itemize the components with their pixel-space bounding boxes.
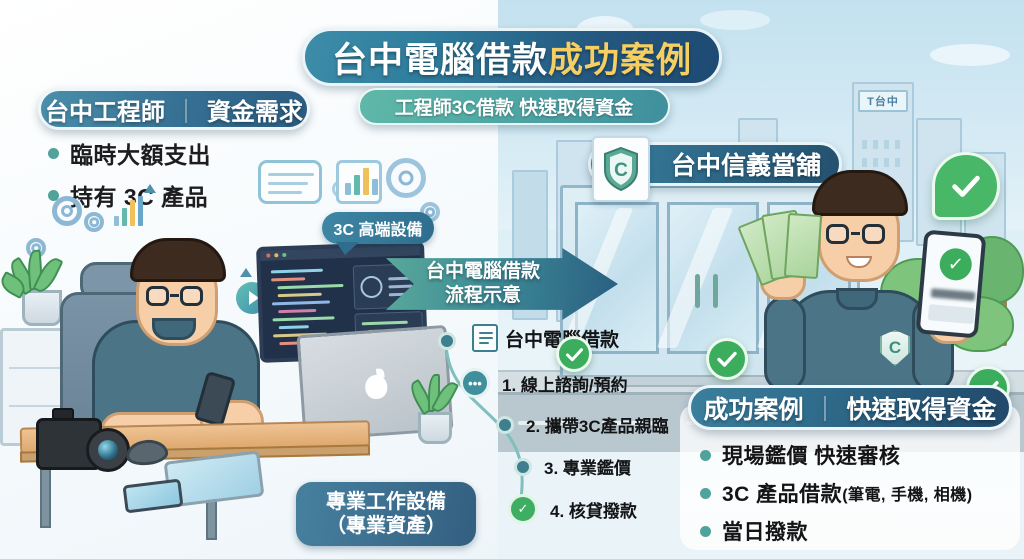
chat-icon: ••• xyxy=(460,368,490,398)
chat-bubble-icon xyxy=(258,160,322,204)
list-item-label: 臨時大額支出 xyxy=(70,136,211,170)
step-item-2: 2. 攜帶3C產品親臨 xyxy=(496,412,669,437)
left-section-badge: 台中工程師 ｜ 資金需求 xyxy=(38,88,310,130)
callout-3c-device: 3C 高端設備 xyxy=(322,212,434,244)
list-item-note: (筆電, 手機, 相機) xyxy=(842,481,972,505)
badge-separator: ｜ xyxy=(812,390,837,426)
infographic-poster: T台中 台中電腦借款成功案例 工程師3C借款 快速取得資金 台中工程師 ｜ xyxy=(0,0,1024,559)
cash-bill xyxy=(784,213,822,279)
document-icon xyxy=(472,324,498,352)
check-glyph xyxy=(949,169,983,203)
step-label: 1. 線上諮詢/預約 xyxy=(502,371,628,396)
left-badge-secondary: 資金需求 xyxy=(207,92,303,127)
step-item-1: ••• 1. 線上諮詢/預約 xyxy=(460,368,628,398)
step-node-icon xyxy=(514,458,532,476)
list-item: 3C 產品借款 (筆電, 手機, 相機) xyxy=(700,478,973,508)
shield-icon: C xyxy=(602,146,640,192)
step-item-3: 3. 專業鑑價 xyxy=(514,454,631,479)
caption-line-1: 專業工作設備 xyxy=(326,490,446,514)
step-node-icon xyxy=(496,416,514,434)
success-badge: 成功案例 ｜ 快速取得資金 xyxy=(688,385,1012,430)
list-item-label: 現場鑑價 快速審核 xyxy=(722,440,900,470)
success-badge-primary: 成功案例 xyxy=(703,390,803,426)
glasses-lens-icon xyxy=(146,286,169,306)
building-sign-label: T台中 xyxy=(858,90,908,112)
check-badge-icon xyxy=(706,338,748,380)
camera-viewfinder xyxy=(52,408,74,420)
phone-check-icon: ✓ xyxy=(938,247,973,282)
page-title-main: 台中電腦借款 xyxy=(332,32,548,83)
svg-text:C: C xyxy=(614,160,628,181)
glasses-bridge-icon xyxy=(851,232,860,235)
bullet-dot-icon xyxy=(48,148,59,159)
page-subtitle: 工程師3C借款 快速取得資金 xyxy=(358,88,670,125)
page-title-highlight: 成功案例 xyxy=(548,32,692,83)
approval-smartphone: ✓ xyxy=(916,229,987,338)
page-title: 台中電腦借款成功案例 xyxy=(302,28,722,86)
steps-header: 台中電腦借款 xyxy=(472,324,619,352)
glasses-lens-icon xyxy=(826,224,849,244)
cloud-icon xyxy=(700,10,770,30)
glasses-lens-icon xyxy=(180,286,203,306)
glasses-lens-icon xyxy=(862,224,885,244)
left-badge-primary: 台中工程師 xyxy=(45,92,165,127)
check-icon: ✓ xyxy=(508,494,538,524)
check-glyph xyxy=(715,347,739,371)
success-badge-secondary: 快速取得資金 xyxy=(847,390,997,426)
flow-arrow-line-2: 流程示意 xyxy=(426,284,540,308)
success-bullet-list: 現場鑑價 快速審核 3C 產品借款 (筆電, 手機, 相機) 當日撥款 xyxy=(700,440,973,554)
bullet-dot-icon xyxy=(700,526,711,537)
list-item: 現場鑑價 快速審核 xyxy=(700,440,973,470)
gear-icon xyxy=(52,196,82,226)
shop-logo-plaque: C xyxy=(592,136,650,202)
step-label: 3. 專業鑑價 xyxy=(544,454,631,479)
badge-separator: ｜ xyxy=(174,92,198,127)
staff-arm-left xyxy=(764,296,806,392)
check-badge-icon xyxy=(556,336,592,372)
caption-line-2: （專業資產） xyxy=(326,514,446,538)
bar-chart-icon xyxy=(112,192,156,228)
bullet-dot-icon xyxy=(700,488,711,499)
list-item-label: 3C 產品借款 xyxy=(722,478,842,508)
check-glyph xyxy=(564,344,585,365)
list-item-label: 當日撥款 xyxy=(722,516,808,546)
flow-start-node xyxy=(438,332,456,350)
list-item: 臨時大額支出 xyxy=(48,136,211,170)
flow-arrow-text: 台中電腦借款 流程示意 xyxy=(426,260,540,307)
flow-arrow-line-1: 台中電腦借款 xyxy=(426,260,540,284)
step-label: 2. 攜帶3C產品親臨 xyxy=(526,412,669,437)
staff-collar xyxy=(836,288,878,310)
potted-plant xyxy=(22,290,62,326)
bullet-dot-icon xyxy=(700,450,711,461)
arrow-up-icon xyxy=(240,268,252,277)
step-label: 4. 核貸撥款 xyxy=(550,497,637,522)
step-item-4: ✓ 4. 核貸撥款 xyxy=(508,494,637,524)
engineer-collar xyxy=(152,318,196,340)
list-item: 當日撥款 xyxy=(700,516,973,546)
apple-logo-icon xyxy=(364,374,388,399)
check-bubble-icon xyxy=(932,152,1000,220)
gear-icon xyxy=(386,158,426,198)
cloud-icon xyxy=(930,44,1010,66)
camera-lens-icon xyxy=(86,428,130,472)
glasses-bridge-icon xyxy=(170,294,179,297)
gear-icon xyxy=(84,212,104,232)
bar-chart-icon xyxy=(336,160,382,204)
